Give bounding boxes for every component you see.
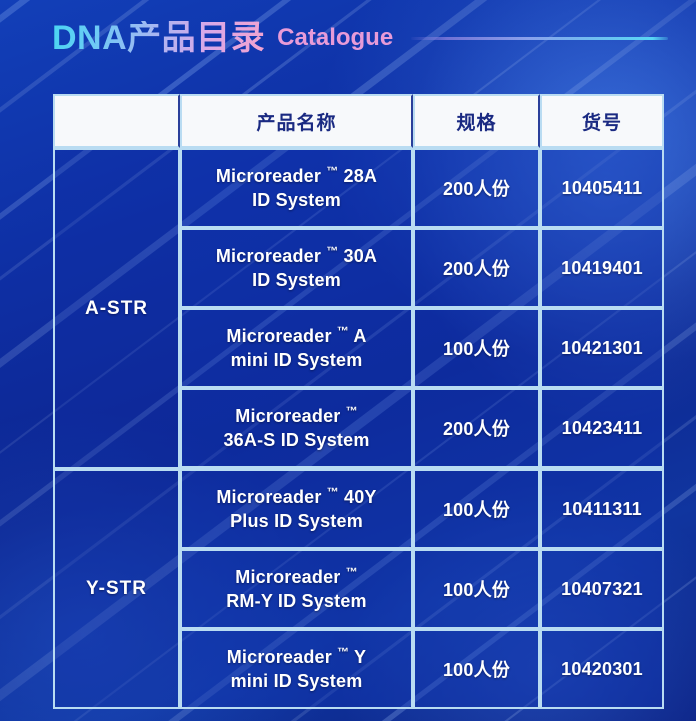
product-name-line2: Plus ID System: [188, 510, 405, 534]
poster-header: DNA产品目录 Catalogue: [52, 14, 676, 62]
cell-specification: 100人份: [413, 469, 540, 549]
cell-specification: 200人份: [413, 228, 540, 308]
table-header: 产品名称 规格 货号: [53, 94, 664, 148]
product-name-line2: ID System: [188, 189, 405, 213]
product-name-line1: Microreader ™ A: [188, 324, 405, 349]
group-label-y-str: Y-STR: [53, 469, 180, 709]
cell-product-name: Microreader ™ 36A-S ID System: [180, 388, 413, 469]
product-name-line1: Microreader ™ 40Y: [188, 485, 405, 510]
cell-specification: 100人份: [413, 308, 540, 388]
cell-specification: 100人份: [413, 549, 540, 629]
product-name-line1: Microreader ™ 30A: [188, 244, 405, 269]
page-subtitle: Catalogue: [277, 26, 393, 50]
page-title: DNA产品目录: [52, 21, 265, 55]
catalogue-table: 产品名称 规格 货号 A-STR Microreader ™ 28A ID Sy…: [53, 94, 664, 709]
cell-item-number: 10407321: [540, 549, 664, 629]
column-header-specification: 规格: [413, 94, 540, 148]
table-body: A-STR Microreader ™ 28A ID System 200人份 …: [53, 148, 664, 709]
cell-product-name: Microreader ™ Y mini ID System: [180, 629, 413, 709]
cell-product-name: Microreader ™ 40Y Plus ID System: [180, 469, 413, 549]
product-name-line2: 36A-S ID System: [188, 429, 405, 453]
column-header-item-number: 货号: [540, 94, 664, 148]
table-row: A-STR Microreader ™ 28A ID System 200人份 …: [53, 148, 664, 228]
product-name-line2: mini ID System: [188, 349, 405, 373]
group-label-a-str: A-STR: [53, 148, 180, 469]
cell-item-number: 10411311: [540, 469, 664, 549]
column-header-group: [53, 94, 180, 148]
product-name-line1: Microreader ™: [188, 565, 405, 590]
cell-product-name: Microreader ™ RM-Y ID System: [180, 549, 413, 629]
product-name-line1: Microreader ™ Y: [188, 645, 405, 670]
cell-specification: 200人份: [413, 388, 540, 469]
cell-product-name: Microreader ™ 30A ID System: [180, 228, 413, 308]
cell-product-name: Microreader ™ A mini ID System: [180, 308, 413, 388]
product-name-line2: RM-Y ID System: [188, 590, 405, 614]
cell-specification: 200人份: [413, 148, 540, 228]
cell-specification: 100人份: [413, 629, 540, 709]
product-name-line2: mini ID System: [188, 670, 405, 694]
poster-root: DNA产品目录 Catalogue 产品名称 规格 货号 A-STR: [0, 0, 696, 721]
catalogue-table-container: 产品名称 规格 货号 A-STR Microreader ™ 28A ID Sy…: [53, 94, 664, 709]
cell-item-number: 10421301: [540, 308, 664, 388]
cell-item-number: 10420301: [540, 629, 664, 709]
cell-item-number: 10405411: [540, 148, 664, 228]
title-divider-line: [411, 37, 668, 40]
product-name-line2: ID System: [188, 269, 405, 293]
cell-product-name: Microreader ™ 28A ID System: [180, 148, 413, 228]
table-row: Y-STR Microreader ™ 40Y Plus ID System 1…: [53, 469, 664, 549]
table-header-row: 产品名称 规格 货号: [53, 94, 664, 148]
column-header-product-name: 产品名称: [180, 94, 413, 148]
product-name-line1: Microreader ™ 28A: [188, 164, 405, 189]
cell-item-number: 10419401: [540, 228, 664, 308]
product-name-line1: Microreader ™: [188, 404, 405, 429]
cell-item-number: 10423411: [540, 388, 664, 469]
